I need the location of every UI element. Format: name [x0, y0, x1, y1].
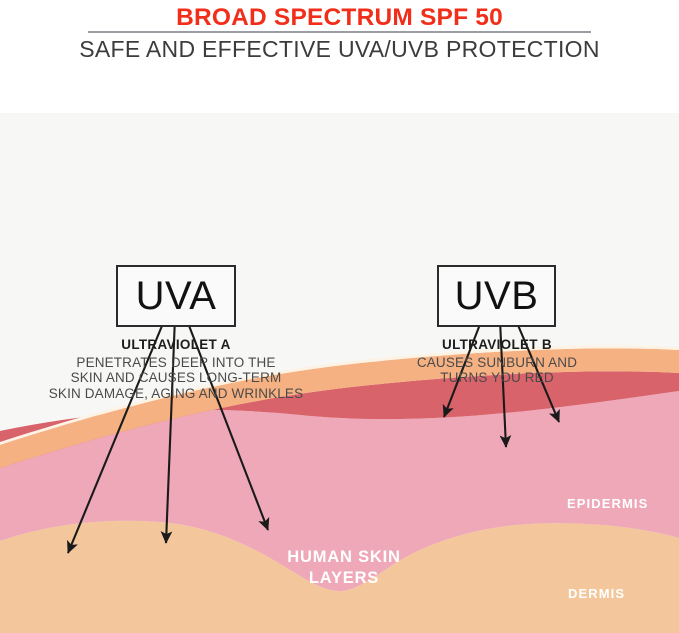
uva-caption: ULTRAVIOLET A PENETRATES DEEP INTO THE S… [6, 337, 346, 401]
epidermis-label: EPIDERMIS [567, 496, 648, 511]
human-skin-line-1: HUMAN SKIN [264, 547, 424, 568]
title-divider [88, 31, 591, 33]
dermis-label: DERMIS [568, 586, 625, 601]
skin-diagram-panel: EPIDERMIS DERMIS HUMAN SKIN LAYERS UVA U… [0, 113, 679, 633]
uva-description-line-1: PENETRATES DEEP INTO THE [6, 355, 346, 371]
uvb-description-line-1: CAUSES SUNBURN AND [382, 355, 612, 371]
uva-description-line-3: SKIN DAMAGE, AGING AND WRINKLES [6, 386, 346, 402]
uvb-caption: ULTRAVIOLET B CAUSES SUNBURN AND TURNS Y… [382, 337, 612, 386]
human-skin-layers-label: HUMAN SKIN LAYERS [264, 547, 424, 589]
uvb-box: UVB [437, 265, 556, 327]
uva-heading: ULTRAVIOLET A [6, 337, 346, 353]
page-title: BROAD SPECTRUM SPF 50 [0, 4, 679, 32]
uva-description-line-2: SKIN AND CAUSES LONG-TERM [6, 370, 346, 386]
header: BROAD SPECTRUM SPF 50 SAFE AND EFFECTIVE… [0, 0, 679, 113]
uva-box-label: UVA [136, 276, 217, 316]
uvb-heading: ULTRAVIOLET B [382, 337, 612, 353]
uvb-description-line-2: TURNS YOU RED [382, 370, 612, 386]
human-skin-line-2: LAYERS [264, 568, 424, 589]
uvb-box-label: UVB [455, 276, 539, 316]
page-subtitle: SAFE AND EFFECTIVE UVA/UVB PROTECTION [0, 36, 679, 63]
uva-box: UVA [116, 265, 236, 327]
sunscreen-infographic: BROAD SPECTRUM SPF 50 SAFE AND EFFECTIVE… [0, 0, 679, 633]
